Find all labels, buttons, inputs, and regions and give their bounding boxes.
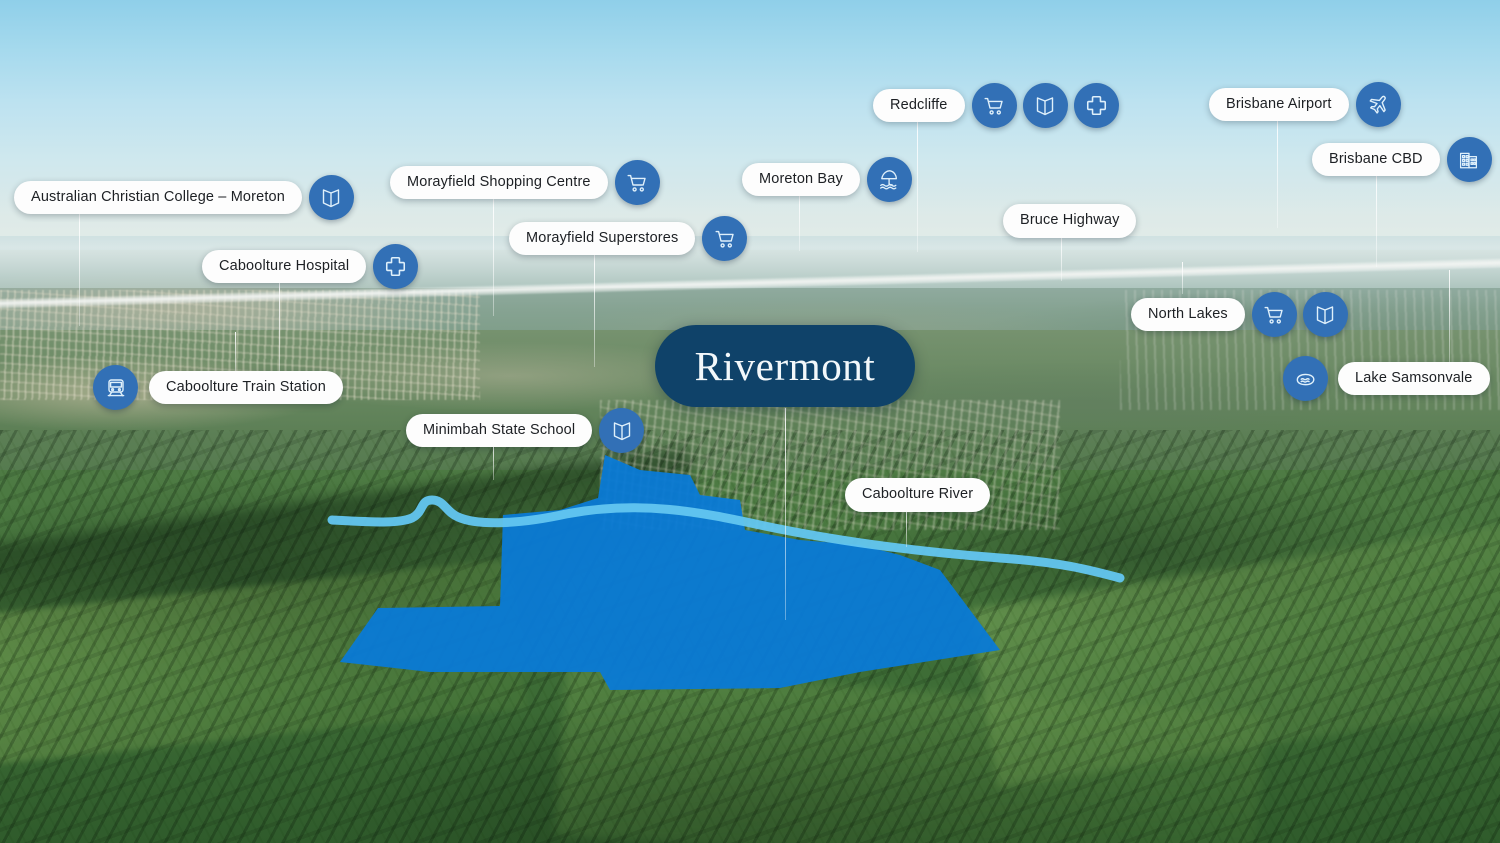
- redcliffe-icon-group: [972, 83, 1119, 128]
- pin-label-caboolture-hospital[interactable]: Caboolture Hospital: [202, 250, 366, 284]
- leader-line-rivermont: [785, 408, 786, 620]
- pin-label-bruce-highway[interactable]: Bruce Highway: [1003, 204, 1136, 238]
- north-lakes-icon-group: [1252, 292, 1348, 337]
- leader-line-redcliffe: [917, 118, 918, 252]
- pin-label-moreton-bay[interactable]: Moreton Bay: [742, 163, 860, 197]
- pin-australian-christian-college-moreton[interactable]: Australian Christian College – Moreton: [14, 175, 354, 220]
- leader-line-north-lakes: [1182, 262, 1183, 294]
- pin-brisbane-airport[interactable]: Brisbane Airport: [1209, 82, 1401, 127]
- estate-title-badge: Rivermont: [655, 325, 915, 407]
- pin-caboolture-river[interactable]: Caboolture River: [845, 478, 990, 512]
- pin-minimbah-state-school[interactable]: Minimbah State School: [406, 408, 644, 453]
- train-icon[interactable]: [93, 365, 138, 410]
- shopping-cart-icon[interactable]: [1252, 292, 1297, 337]
- airplane-icon[interactable]: [1356, 82, 1401, 127]
- leader-line-brisbane-airport: [1277, 116, 1278, 228]
- leader-line-lake-samsonvale: [1449, 270, 1450, 364]
- pin-moreton-bay[interactable]: Moreton Bay: [742, 157, 912, 202]
- shopping-cart-icon[interactable]: [702, 216, 747, 261]
- book-icon[interactable]: [309, 175, 354, 220]
- page-title: Rivermont: [695, 342, 876, 390]
- medical-cross-icon[interactable]: [1074, 83, 1119, 128]
- pin-brisbane-cbd[interactable]: Brisbane CBD: [1312, 137, 1492, 182]
- leader-line-morayfield-super: [594, 249, 595, 367]
- beach-umbrella-icon[interactable]: [867, 157, 912, 202]
- pin-morayfield-shopping-centre[interactable]: Morayfield Shopping Centre: [390, 160, 660, 205]
- pin-label-brisbane-airport[interactable]: Brisbane Airport: [1209, 88, 1349, 122]
- leader-line-acc-moreton: [79, 208, 80, 326]
- book-icon[interactable]: [1303, 292, 1348, 337]
- pin-caboolture-hospital[interactable]: Caboolture Hospital: [202, 244, 418, 289]
- pin-label-lake-samsonvale[interactable]: Lake Samsonvale: [1338, 362, 1490, 396]
- book-icon[interactable]: [1023, 83, 1068, 128]
- lake-icon[interactable]: [1283, 356, 1328, 401]
- pin-label-caboolture-train-station[interactable]: Caboolture Train Station: [149, 371, 343, 405]
- pin-label-minimbah-state-school[interactable]: Minimbah State School: [406, 414, 592, 448]
- building-icon[interactable]: [1447, 137, 1492, 182]
- pin-label-redcliffe[interactable]: Redcliffe: [873, 89, 965, 123]
- leader-line-bruce-highway: [1061, 233, 1062, 281]
- pin-redcliffe[interactable]: Redcliffe: [873, 83, 1119, 128]
- pin-label-north-lakes[interactable]: North Lakes: [1131, 298, 1245, 332]
- pin-north-lakes[interactable]: North Lakes: [1131, 292, 1348, 337]
- pin-label-australian-christian-college-moreton[interactable]: Australian Christian College – Moreton: [14, 181, 302, 215]
- medical-cross-icon[interactable]: [373, 244, 418, 289]
- pin-label-morayfield-shopping-centre[interactable]: Morayfield Shopping Centre: [390, 166, 608, 200]
- leader-line-brisbane-cbd: [1376, 171, 1377, 267]
- pin-label-brisbane-cbd[interactable]: Brisbane CBD: [1312, 143, 1440, 177]
- book-icon[interactable]: [599, 408, 644, 453]
- pin-lake-samsonvale[interactable]: Lake Samsonvale: [1283, 356, 1490, 401]
- location-map: Rivermont Australian Christian College –…: [0, 0, 1500, 843]
- pin-caboolture-train-station[interactable]: Caboolture Train Station: [93, 365, 343, 410]
- leader-line-caboolture-river: [906, 507, 907, 547]
- pin-label-morayfield-superstores[interactable]: Morayfield Superstores: [509, 222, 695, 256]
- shopping-cart-icon[interactable]: [615, 160, 660, 205]
- pin-morayfield-superstores[interactable]: Morayfield Superstores: [509, 216, 747, 261]
- pin-bruce-highway[interactable]: Bruce Highway: [1003, 204, 1136, 238]
- pin-label-caboolture-river[interactable]: Caboolture River: [845, 478, 990, 512]
- leader-line-morayfield-centre: [493, 196, 494, 316]
- shopping-cart-icon[interactable]: [972, 83, 1017, 128]
